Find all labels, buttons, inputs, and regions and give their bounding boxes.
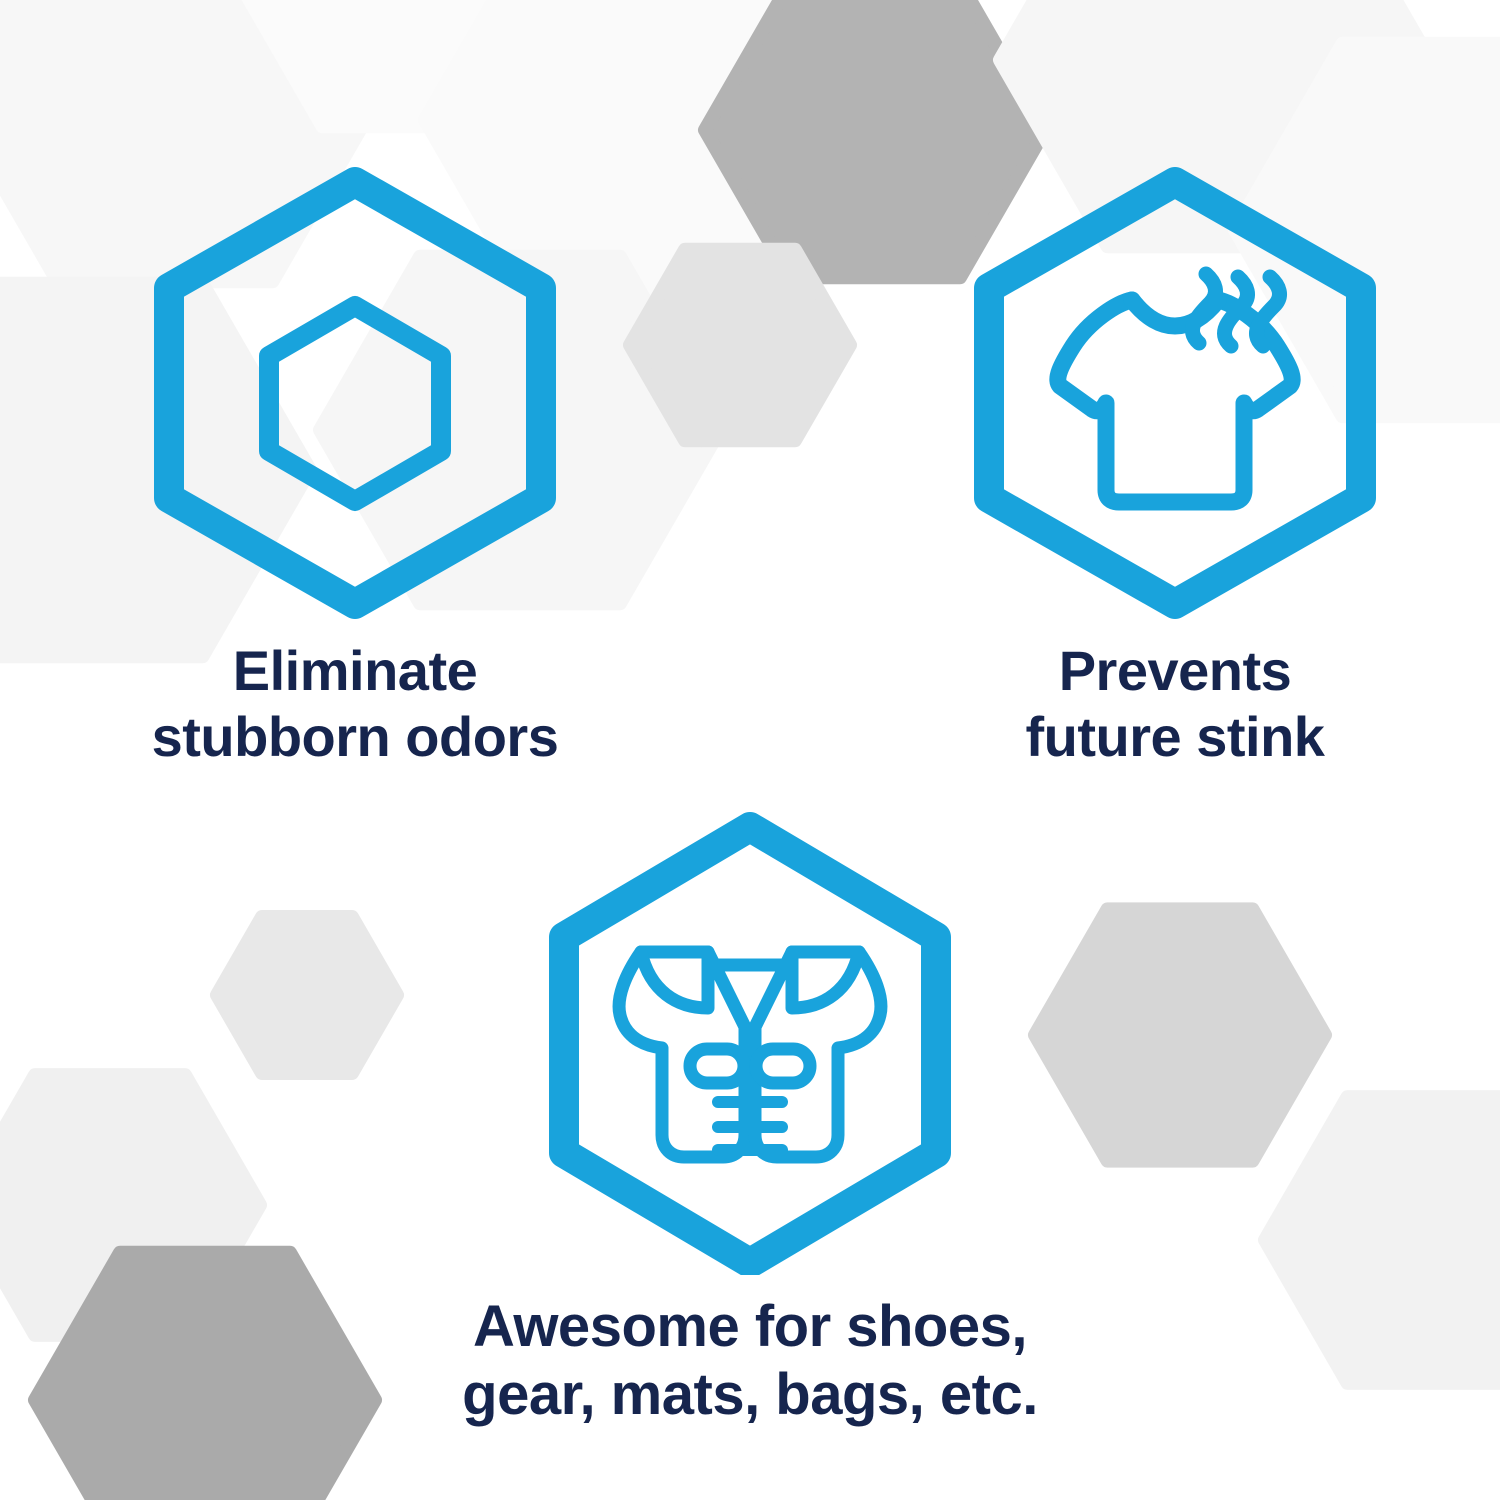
feature-eliminate-stubborn-odors: Eliminate stubborn odors	[35, 160, 675, 770]
tshirt-stink-icon	[965, 160, 1385, 620]
feature-list: Eliminate stubborn odors	[0, 0, 1500, 1500]
feature-caption-awesome: Awesome for shoes, gear, mats, bags, etc…	[462, 1293, 1038, 1430]
life-vest-gear-icon	[540, 805, 960, 1275]
caption-line-2: future stink	[1026, 704, 1325, 770]
caption-line-2: gear, mats, bags, etc.	[462, 1361, 1038, 1429]
feature-caption-eliminate: Eliminate stubborn odors	[152, 638, 559, 770]
caption-line-1: Awesome for shoes,	[462, 1293, 1038, 1361]
caption-line-2: stubborn odors	[152, 704, 559, 770]
caption-line-1: Eliminate	[152, 638, 559, 704]
hexagon-molecule-icon	[145, 160, 565, 620]
caption-line-1: Prevents	[1026, 638, 1325, 704]
feature-awesome-for-gear: Awesome for shoes, gear, mats, bags, etc…	[420, 805, 1080, 1430]
feature-caption-prevents: Prevents future stink	[1026, 638, 1325, 770]
infographic-canvas: Eliminate stubborn odors	[0, 0, 1500, 1500]
feature-prevents-future-stink: Prevents future stink	[855, 160, 1495, 770]
